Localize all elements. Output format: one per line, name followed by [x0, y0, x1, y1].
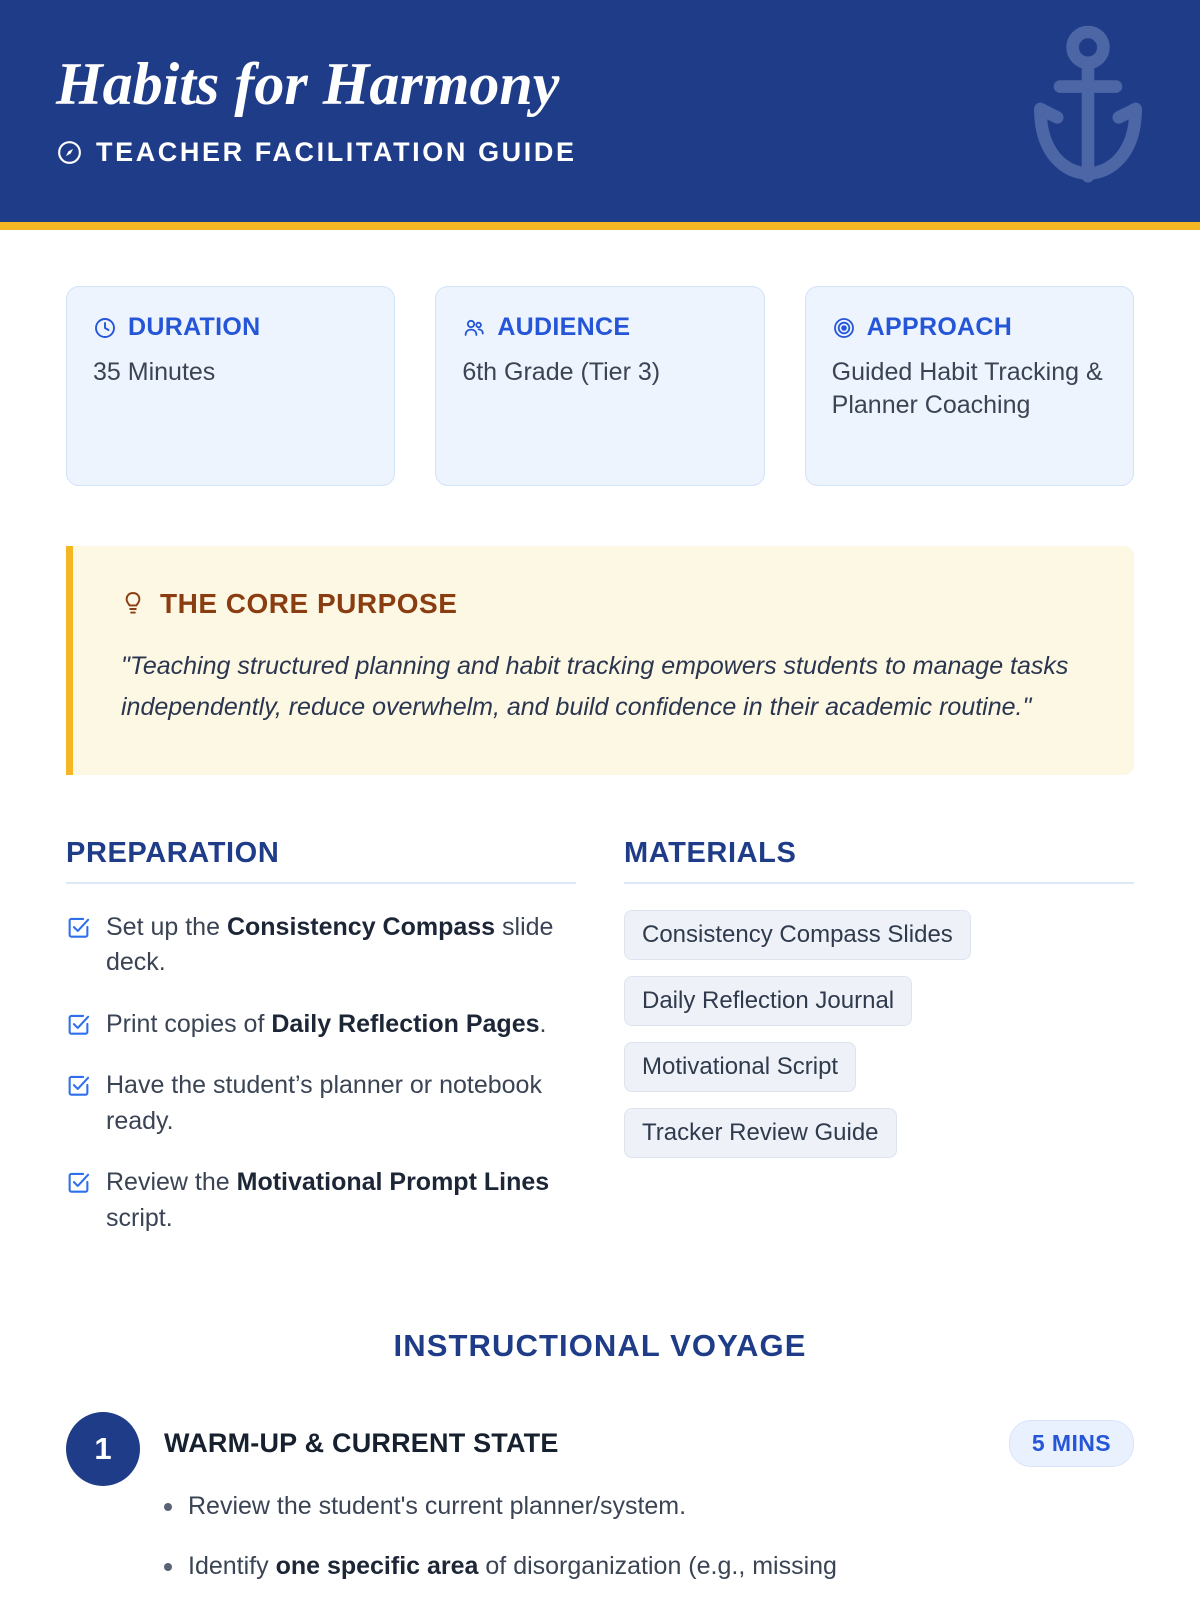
material-list-item: Daily Reflection Journal — [624, 976, 1134, 1042]
bullet-icon — [164, 1503, 172, 1511]
material-list-item: Tracker Review Guide — [624, 1108, 1134, 1174]
preparation-list: Set up the Consistency Compass slide dec… — [66, 910, 576, 1237]
info-card-duration: DURATION 35 Minutes — [66, 286, 395, 486]
materials-column: MATERIALS Consistency Compass SlidesDail… — [624, 837, 1134, 1263]
preparation-item[interactable]: Review the Motivational Prompt Lines scr… — [66, 1165, 576, 1236]
material-list-item: Consistency Compass Slides — [624, 910, 1134, 976]
preparation-column: PREPARATION Set up the Consistency Compa… — [66, 837, 576, 1263]
core-purpose-title: THE CORE PURPOSE — [160, 588, 457, 620]
step-point-text: Review the student's current planner/sys… — [188, 1489, 686, 1525]
step-point-text: Identify one specific area of disorganiz… — [188, 1549, 837, 1585]
info-card-value: 6th Grade (Tier 3) — [462, 356, 737, 389]
materials-list: Consistency Compass SlidesDaily Reflecti… — [624, 910, 1134, 1174]
step-point: Identify one specific area of disorganiz… — [164, 1549, 1134, 1585]
info-card-value: 35 Minutes — [93, 356, 368, 389]
preparation-item-text: Have the student’s planner or notebook r… — [106, 1068, 576, 1139]
material-pill[interactable]: Motivational Script — [624, 1042, 856, 1092]
materials-divider — [624, 882, 1134, 884]
info-card-label: APPROACH — [867, 313, 1012, 342]
materials-title: MATERIALS — [624, 837, 1134, 882]
preparation-item-text: Print copies of Daily Reflection Pages. — [106, 1007, 546, 1043]
bullet-icon — [164, 1563, 172, 1571]
info-card-audience: AUDIENCE 6th Grade (Tier 3) — [435, 286, 764, 486]
step-point: Review the student's current planner/sys… — [164, 1489, 1134, 1525]
page-header: Habits for Harmony TEACHER FACILITATION … — [0, 0, 1200, 222]
step-duration-badge: 5 MINS — [1009, 1420, 1134, 1467]
clock-icon — [93, 316, 117, 340]
preparation-item-text: Review the Motivational Prompt Lines scr… — [106, 1165, 576, 1236]
instructional-voyage-title: INSTRUCTIONAL VOYAGE — [0, 1328, 1200, 1364]
step-points-list: Review the student's current planner/sys… — [164, 1489, 1134, 1584]
anchor-icon — [1018, 24, 1158, 194]
material-pill[interactable]: Tracker Review Guide — [624, 1108, 897, 1158]
preparation-item[interactable]: Have the student’s planner or notebook r… — [66, 1068, 576, 1139]
preparation-item-text: Set up the Consistency Compass slide dec… — [106, 910, 576, 981]
voyage-steps: 1WARM-UP & CURRENT STATE5 MINSReview the… — [0, 1364, 1200, 1600]
step-body: WARM-UP & CURRENT STATE5 MINSReview the … — [164, 1412, 1134, 1600]
core-purpose-callout: THE CORE PURPOSE "Teaching structured pl… — [66, 546, 1134, 775]
lightbulb-icon — [121, 590, 145, 618]
info-card-header: APPROACH — [832, 313, 1107, 342]
material-pill[interactable]: Consistency Compass Slides — [624, 910, 971, 960]
material-pill[interactable]: Daily Reflection Journal — [624, 976, 912, 1026]
checkbox-checked-icon — [66, 1073, 91, 1098]
checkbox-checked-icon — [66, 915, 91, 940]
info-card-label: AUDIENCE — [497, 313, 630, 342]
info-card-label: DURATION — [128, 313, 260, 342]
info-cards: DURATION 35 Minutes AUDIENCE 6th Grade (… — [0, 230, 1200, 486]
header-accent-bar — [0, 222, 1200, 230]
facilitation-guide-page: Habits for Harmony TEACHER FACILITATION … — [0, 0, 1200, 1600]
voyage-step: 1WARM-UP & CURRENT STATE5 MINSReview the… — [66, 1412, 1134, 1600]
info-card-approach: APPROACH Guided Habit Tracking & Planner… — [805, 286, 1134, 486]
step-header: WARM-UP & CURRENT STATE5 MINS — [164, 1420, 1134, 1467]
checkbox-checked-icon — [66, 1170, 91, 1195]
page-title: Habits for Harmony — [56, 52, 1144, 117]
core-purpose-quote: "Teaching structured planning and habit … — [121, 646, 1090, 729]
step-number-badge: 1 — [66, 1412, 140, 1486]
core-purpose-header: THE CORE PURPOSE — [121, 588, 1090, 620]
header-subtitle: TEACHER FACILITATION GUIDE — [56, 137, 1144, 168]
info-card-header: DURATION — [93, 313, 368, 342]
compass-icon — [56, 139, 83, 166]
material-list-item: Motivational Script — [624, 1042, 1134, 1108]
header-subtitle-text: TEACHER FACILITATION GUIDE — [96, 137, 577, 168]
prep-materials-columns: PREPARATION Set up the Consistency Compa… — [0, 775, 1200, 1263]
checkbox-checked-icon — [66, 1012, 91, 1037]
audience-icon — [462, 316, 486, 340]
target-icon — [832, 316, 856, 340]
preparation-item[interactable]: Print copies of Daily Reflection Pages. — [66, 1007, 576, 1043]
info-card-header: AUDIENCE — [462, 313, 737, 342]
preparation-title: PREPARATION — [66, 837, 576, 882]
preparation-divider — [66, 882, 576, 884]
preparation-item[interactable]: Set up the Consistency Compass slide dec… — [66, 910, 576, 981]
info-card-value: Guided Habit Tracking & Planner Coaching — [832, 356, 1107, 423]
step-title: WARM-UP & CURRENT STATE — [164, 1428, 559, 1459]
